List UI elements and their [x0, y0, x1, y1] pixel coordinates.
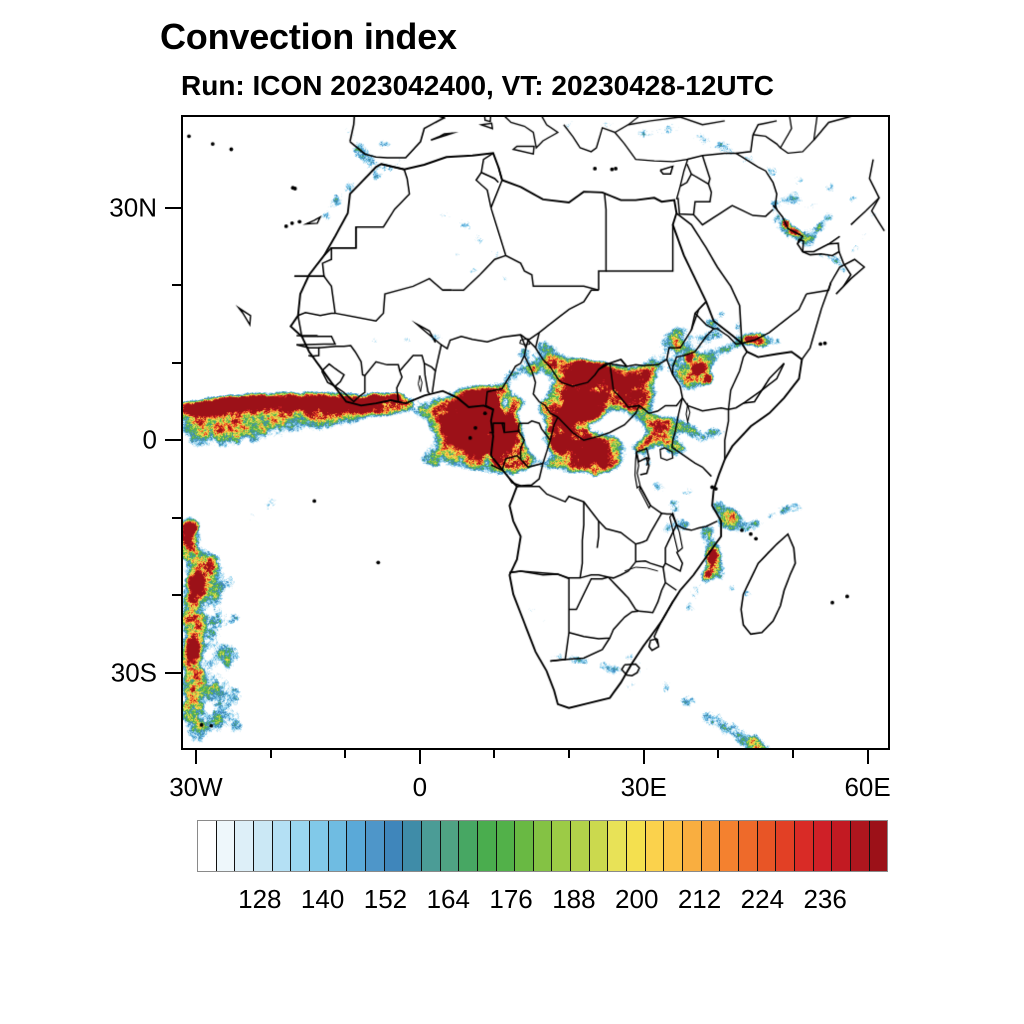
colorbar-tick-label: 164	[427, 884, 470, 915]
lon-tick	[792, 750, 794, 758]
lat-tick	[172, 517, 181, 519]
lat-label: 0	[143, 425, 157, 456]
lat-tick	[165, 439, 181, 441]
lat-label: 30N	[109, 192, 157, 223]
colorbar-segment	[235, 821, 254, 871]
colorbar-segment	[720, 821, 739, 871]
page-title: Convection index	[160, 16, 457, 58]
colorbar-segment	[702, 821, 721, 871]
colorbar-segment	[851, 821, 870, 871]
lat-tick	[172, 284, 181, 286]
run-subtitle: Run: ICON 2023042400, VT: 20230428-12UTC	[181, 70, 774, 102]
colorbar-segment	[478, 821, 497, 871]
colorbar-segment	[385, 821, 404, 871]
colorbar-segment	[534, 821, 553, 871]
colorbar-segment	[291, 821, 310, 871]
lon-tick	[344, 750, 346, 758]
lon-tick	[717, 750, 719, 758]
colorbar-segment	[552, 821, 571, 871]
colorbar-segment	[683, 821, 702, 871]
lon-label: 60E	[844, 772, 890, 803]
lon-tick	[568, 750, 570, 758]
colorbar-tick-label: 236	[803, 884, 846, 915]
colorbar-segment	[627, 821, 646, 871]
colorbar	[197, 820, 888, 872]
colorbar-segment	[217, 821, 236, 871]
colorbar-tick-labels: 128140152164176188200212224236	[197, 884, 888, 918]
lon-tick	[419, 750, 421, 764]
colorbar-segment	[571, 821, 590, 871]
colorbar-tick-label: 140	[301, 884, 344, 915]
colorbar-segment	[273, 821, 292, 871]
colorbar-segment	[832, 821, 851, 871]
colorbar-segment	[497, 821, 516, 871]
colorbar-segment	[310, 821, 329, 871]
colorbar-segment	[758, 821, 777, 871]
lat-tick	[172, 594, 181, 596]
lon-tick	[867, 750, 869, 764]
colorbar-segment	[403, 821, 422, 871]
colorbar-tick-label: 176	[489, 884, 532, 915]
map-plot-frame	[181, 115, 890, 750]
colorbar-segment	[608, 821, 627, 871]
colorbar-segment	[870, 821, 888, 871]
colorbar-tick-label: 200	[615, 884, 658, 915]
colorbar-tick-label: 212	[678, 884, 721, 915]
colorbar-tick-label: 152	[364, 884, 407, 915]
colorbar-segment	[664, 821, 683, 871]
colorbar-segment	[776, 821, 795, 871]
colorbar-segment	[814, 821, 833, 871]
lat-tick	[165, 672, 181, 674]
lat-tick	[165, 207, 181, 209]
lat-tick	[172, 362, 181, 364]
colorbar-segment	[459, 821, 478, 871]
lon-label: 30E	[621, 772, 667, 803]
convection-index-map	[183, 117, 888, 748]
colorbar-segment	[422, 821, 441, 871]
colorbar-segment	[590, 821, 609, 871]
colorbar-segment	[515, 821, 534, 871]
colorbar-segment	[646, 821, 665, 871]
colorbar-segment	[198, 821, 217, 871]
colorbar-segment	[329, 821, 348, 871]
colorbar-segment	[795, 821, 814, 871]
colorbar-segment	[347, 821, 366, 871]
colorbar-segment	[739, 821, 758, 871]
colorbar-segment	[366, 821, 385, 871]
lat-label: 30S	[111, 657, 157, 688]
colorbar-segment	[441, 821, 460, 871]
lon-tick	[195, 750, 197, 764]
lon-label: 30W	[169, 772, 222, 803]
lon-tick	[643, 750, 645, 764]
lon-tick	[270, 750, 272, 758]
colorbar-tick-label: 188	[552, 884, 595, 915]
lon-label: 0	[413, 772, 427, 803]
colorbar-tick-label: 128	[238, 884, 281, 915]
lon-tick	[493, 750, 495, 758]
colorbar-segment	[254, 821, 273, 871]
colorbar-tick-label: 224	[741, 884, 784, 915]
